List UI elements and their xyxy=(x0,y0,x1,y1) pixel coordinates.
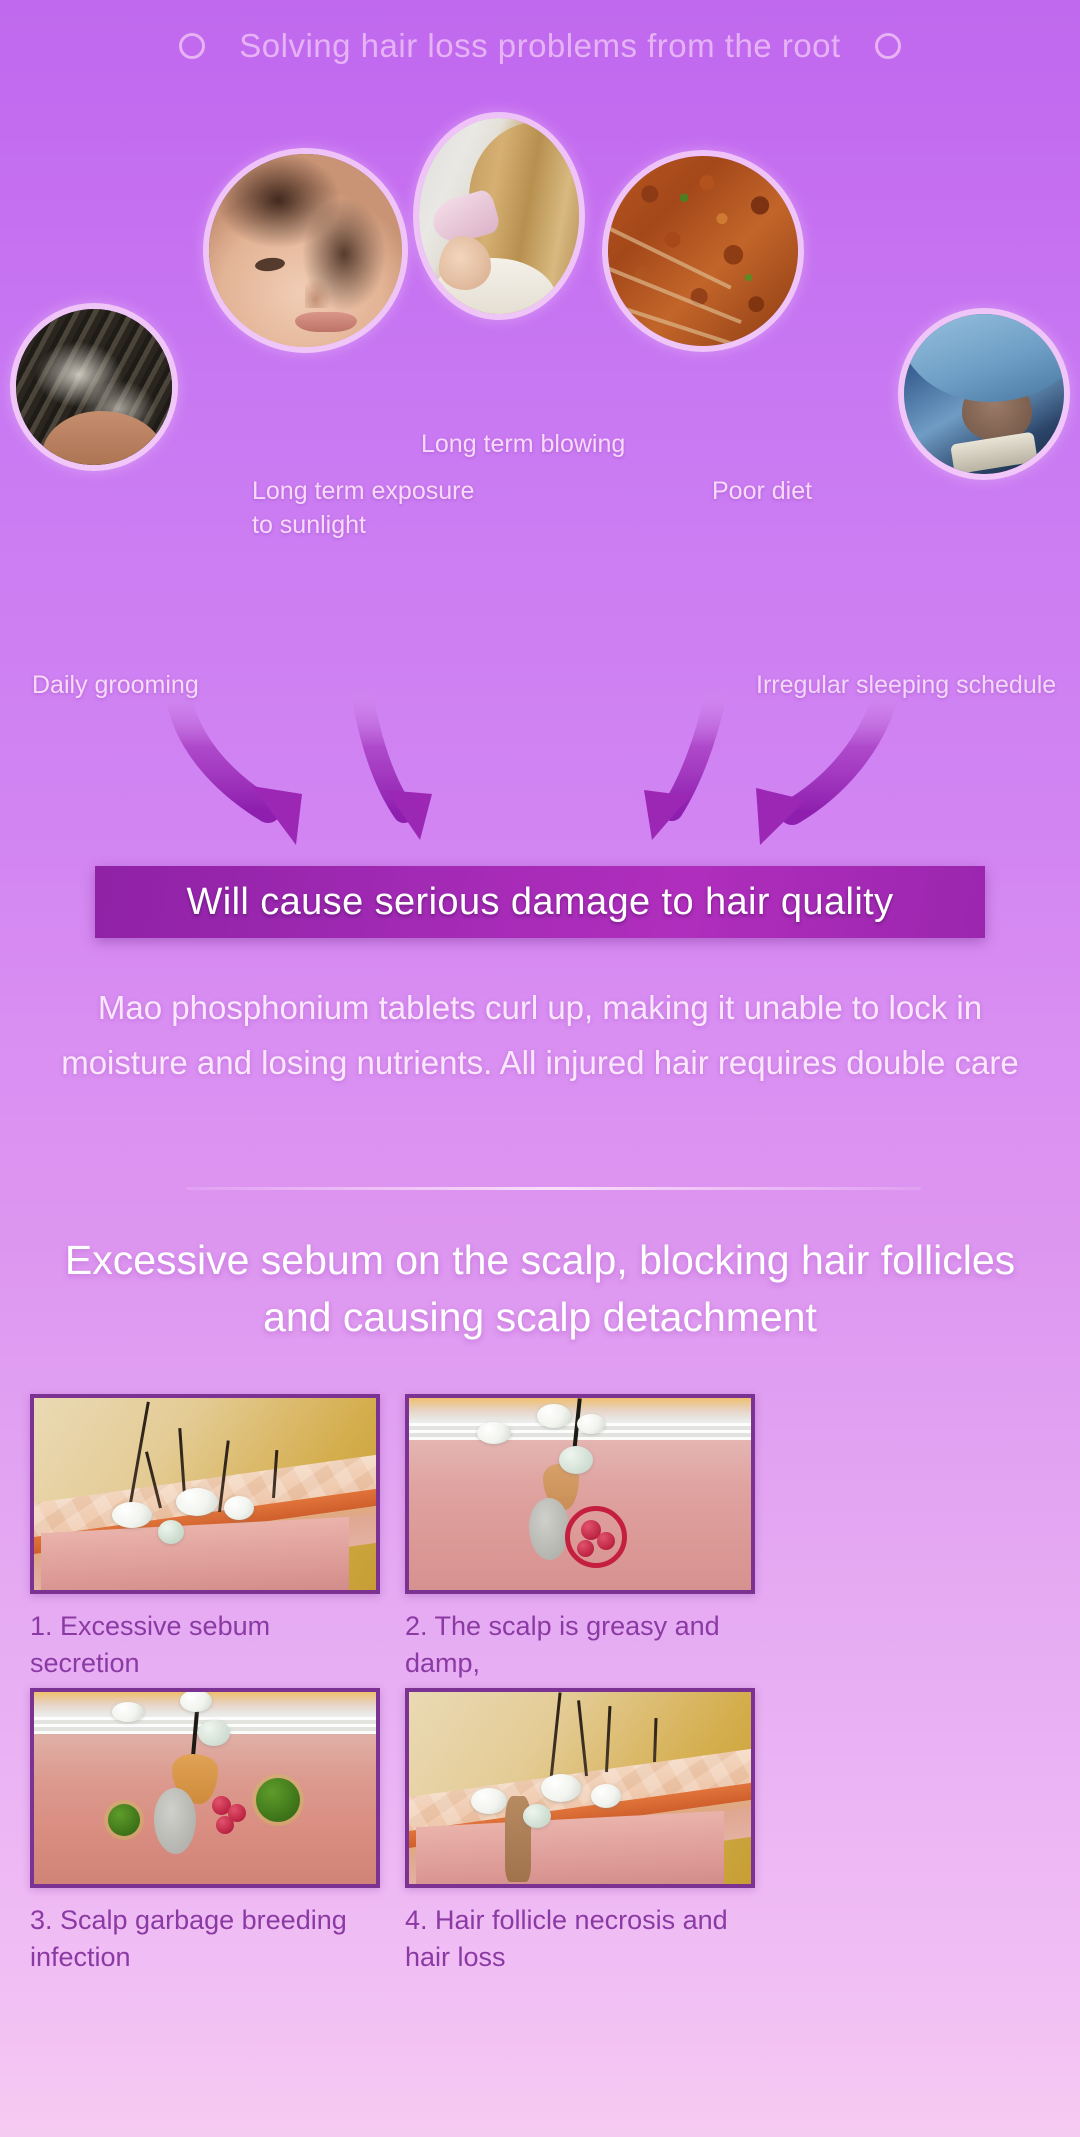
stage-image-1 xyxy=(30,1394,380,1594)
skewer-stick xyxy=(621,306,765,352)
hair-strand xyxy=(605,1706,611,1772)
sebum-blob xyxy=(158,1520,184,1544)
stage-item-3: 3. Scalp garbage breeding infection xyxy=(30,1688,380,1976)
virus-cell xyxy=(256,1778,300,1822)
skewer-stick xyxy=(602,220,732,289)
face-eye xyxy=(254,256,285,272)
cause-photo-grooming xyxy=(10,303,178,471)
bacteria-cell xyxy=(577,1540,594,1557)
woman-face-in-harsh-sunlight-image xyxy=(209,154,402,347)
sebum-section-title: Excessive sebum on the scalp, blocking h… xyxy=(40,1232,1040,1346)
stage-image-4 xyxy=(405,1688,755,1888)
cause-photo-sunlight xyxy=(203,148,408,353)
stage-item-1: 1. Excessive sebum secretion on the scal… xyxy=(30,1394,380,1719)
blocked-follicle-with-bacteria-highlight-image xyxy=(409,1398,751,1590)
phone-glow-shape xyxy=(950,432,1038,475)
skewer-stick xyxy=(602,264,742,324)
sebum-blob xyxy=(471,1788,507,1814)
cause-photo-blowing xyxy=(413,112,585,320)
face-nose xyxy=(305,278,331,308)
bacteria-cell xyxy=(216,1816,234,1834)
stage-image-2 xyxy=(405,1394,755,1594)
blanket-shape xyxy=(898,308,1070,402)
infographic-page: Solving hair loss problems from the root xyxy=(0,0,1080,2137)
girl-under-blanket-at-night-image xyxy=(904,314,1064,474)
cause-label-blowing: Long term blowing xyxy=(421,427,625,461)
damage-banner-text: Will cause serious damage to hair qualit… xyxy=(186,881,893,924)
sebum-blob xyxy=(112,1702,144,1722)
arrow-3 xyxy=(644,694,716,840)
wet-shampooed-hair-image xyxy=(16,309,172,465)
sebum-blob xyxy=(176,1488,218,1516)
arrow-2 xyxy=(362,694,432,840)
bacteria-cell xyxy=(597,1532,615,1550)
damage-description: Mao phosphonium tablets curl up, making … xyxy=(60,980,1020,1090)
sebum-blob xyxy=(559,1446,593,1474)
arrow-group xyxy=(0,690,1080,850)
cause-label-diet: Poor diet xyxy=(712,474,812,508)
scalp-with-empty-follicle-image xyxy=(409,1692,751,1884)
curved-arrows-svg xyxy=(0,690,1080,850)
sebum-blob xyxy=(541,1774,581,1802)
sebum-blob xyxy=(577,1414,605,1434)
section-divider xyxy=(186,1187,921,1190)
stage-image-3 xyxy=(30,1688,380,1888)
cause-photo-sleep xyxy=(898,308,1070,480)
arrow-1 xyxy=(178,694,302,845)
cause-label-sunlight: Long term exposure to sunlight xyxy=(252,474,474,542)
follicle-bulb xyxy=(529,1498,569,1560)
sebum-blob xyxy=(112,1502,152,1528)
stage-item-4: 4. Hair follicle necrosis and hair loss xyxy=(405,1688,755,1976)
hair-strand xyxy=(549,1692,562,1784)
sebum-blob xyxy=(477,1422,511,1444)
stage-caption-3: 3. Scalp garbage breeding infection xyxy=(30,1902,380,1976)
neck-skin-shape xyxy=(42,411,164,471)
sebum-blob xyxy=(523,1804,551,1828)
grilled-meat-skewers-image xyxy=(608,156,798,346)
follicle-bulb xyxy=(154,1788,196,1854)
cause-photo-diet xyxy=(602,150,804,352)
woman-blow-drying-hair-image xyxy=(419,118,579,314)
cause-photo-group: Long term blowing Long term exposure to … xyxy=(0,0,1080,720)
scalp-cross-section-with-sebum-image xyxy=(34,1398,376,1590)
virus-cell xyxy=(108,1804,140,1836)
infected-scalp-with-green-and-red-microbes-image xyxy=(34,1692,376,1884)
arrow-4 xyxy=(756,694,886,845)
stage-caption-4: 4. Hair follicle necrosis and hair loss xyxy=(405,1902,755,1976)
sebum-blob xyxy=(180,1690,212,1712)
hair-strand xyxy=(577,1700,588,1776)
sebum-blob xyxy=(198,1720,230,1746)
sebum-blob xyxy=(591,1784,621,1808)
sebum-blob xyxy=(537,1404,571,1428)
damage-banner: Will cause serious damage to hair qualit… xyxy=(95,866,985,938)
sebum-blob xyxy=(224,1496,254,1520)
face-lips xyxy=(295,312,357,332)
hair-strand xyxy=(653,1718,658,1762)
